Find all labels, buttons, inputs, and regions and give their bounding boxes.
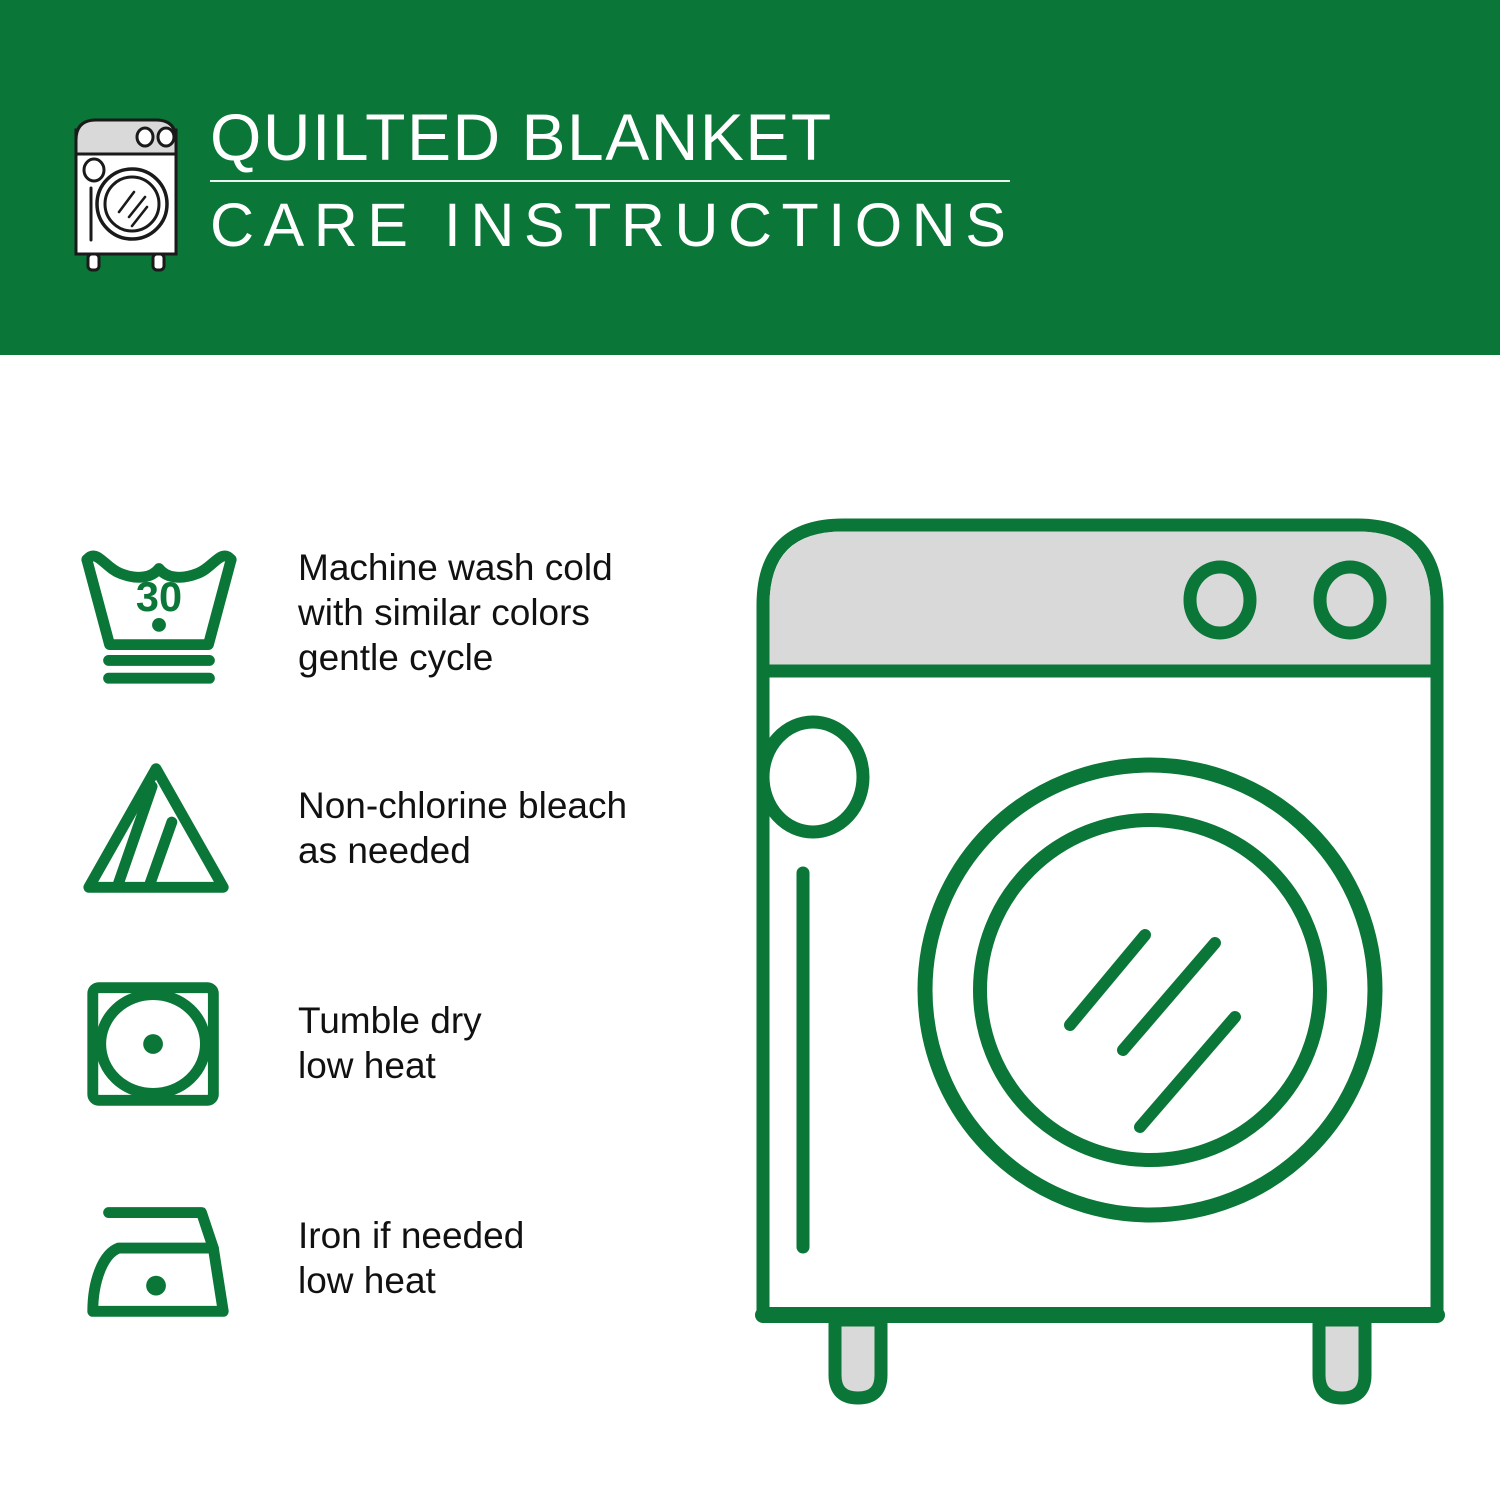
care-text-machine-wash: Machine wash cold with similar colors ge… — [298, 545, 613, 680]
tumble-dry-low-icon — [75, 968, 243, 1118]
care-row-bleach: Non-chlorine bleach as needed — [75, 720, 715, 935]
care-text-tumble-dry: Tumble dry low heat — [298, 998, 482, 1088]
header-title-block: QUILTED BLANKET CARE INSTRUCTIONS — [210, 100, 1015, 260]
wash-temperature-label: 30 — [136, 573, 182, 620]
header-content: QUILTED BLANKET CARE INSTRUCTIONS — [62, 100, 1015, 272]
title-divider — [210, 180, 1010, 182]
page-title: QUILTED BLANKET — [210, 100, 1015, 174]
leg-right — [1319, 1320, 1365, 1398]
care-instruction-list: 30 Machine wash cold with similar colors… — [75, 505, 715, 1365]
iron-low-icon — [75, 1183, 243, 1333]
page-header: QUILTED BLANKET CARE INSTRUCTIONS — [0, 0, 1500, 355]
knob-right — [1320, 567, 1380, 633]
knob-left — [1190, 567, 1250, 633]
wash-tub-30-icon: 30 — [75, 538, 243, 688]
leg-left — [835, 1320, 881, 1398]
washing-machine-logo-icon — [62, 104, 190, 272]
care-instructions-page: QUILTED BLANKET CARE INSTRUCTIONS — [0, 0, 1500, 1500]
care-text-iron: Iron if needed low heat — [298, 1213, 524, 1303]
front-load-washing-machine-illustration — [745, 505, 1455, 1405]
care-row-iron: Iron if needed low heat — [75, 1150, 715, 1365]
care-row-machine-wash: 30 Machine wash cold with similar colors… — [75, 505, 715, 720]
care-text-bleach: Non-chlorine bleach as needed — [298, 783, 627, 873]
bleach-triangle-icon — [75, 753, 243, 903]
care-row-tumble-dry: Tumble dry low heat — [75, 935, 715, 1150]
detergent-drawer-circle — [763, 722, 863, 832]
page-subtitle: CARE INSTRUCTIONS — [210, 190, 1015, 260]
